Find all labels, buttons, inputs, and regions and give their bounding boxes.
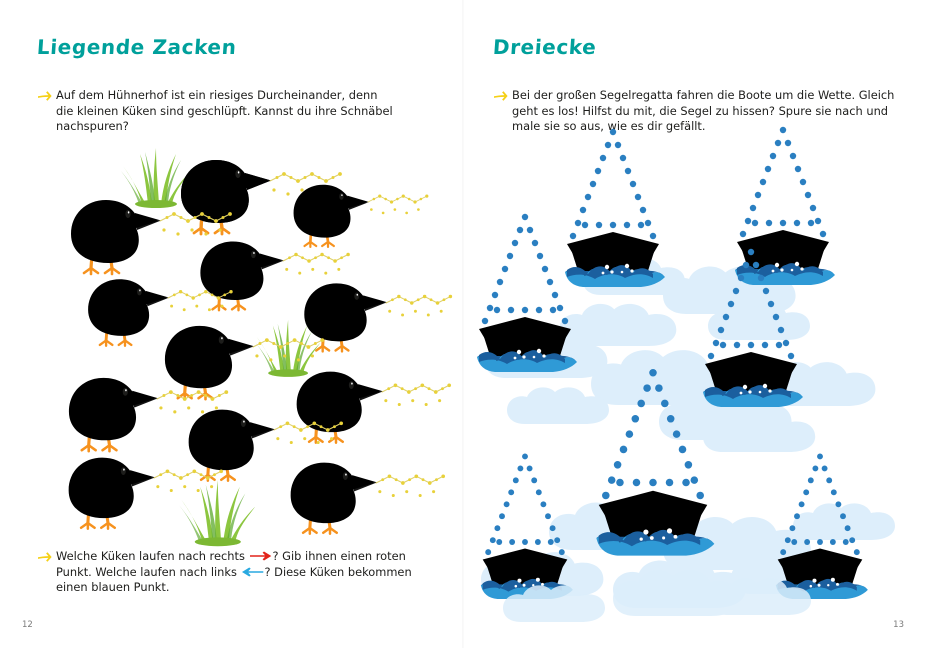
dotted-sail bbox=[780, 453, 859, 555]
chick-6 bbox=[304, 283, 387, 351]
chick bbox=[181, 160, 271, 234]
chick-trail-4 bbox=[283, 253, 350, 275]
chick-1 bbox=[181, 160, 271, 234]
chick-7 bbox=[165, 326, 254, 399]
chick-3 bbox=[294, 185, 370, 247]
bottom-text-part-1: Welche Küken laufen nach rechts bbox=[56, 549, 249, 563]
boat-2 bbox=[735, 127, 835, 285]
boat-4 bbox=[703, 249, 803, 407]
chick-trail-11 bbox=[154, 469, 223, 492]
chick-9 bbox=[297, 372, 383, 443]
bullet-arrow-icon bbox=[494, 90, 508, 102]
chick-12 bbox=[291, 463, 377, 534]
grass-tuft bbox=[179, 480, 255, 546]
book-gutter bbox=[462, 0, 464, 648]
boat-5 bbox=[596, 369, 714, 556]
page-number-right: 13 bbox=[893, 620, 904, 630]
boat-7 bbox=[776, 453, 868, 599]
bullet-arrow-icon bbox=[38, 551, 52, 563]
chick-10 bbox=[189, 410, 275, 481]
chick-2 bbox=[71, 200, 161, 274]
grass-tuft bbox=[121, 148, 190, 208]
water-cloud bbox=[481, 258, 895, 608]
dotted-sail bbox=[708, 249, 794, 359]
chick-4 bbox=[200, 241, 284, 310]
chick-5 bbox=[88, 279, 169, 346]
right-arrow-red-icon bbox=[250, 551, 272, 561]
chick-trail-2 bbox=[160, 212, 232, 236]
boat-3 bbox=[477, 214, 577, 372]
left-page: Liegende Zacken Auf dem Hühnerhof ist ei… bbox=[0, 0, 463, 648]
chick-11 bbox=[69, 458, 155, 529]
boat-6 bbox=[481, 453, 573, 599]
boat-1 bbox=[565, 129, 665, 287]
chick-trail-10 bbox=[274, 421, 343, 444]
right-instruction-text: Bei der großen Segelregatta fahren die B… bbox=[512, 88, 894, 133]
chick-trail-5 bbox=[168, 290, 233, 311]
chick-trail-1 bbox=[270, 172, 342, 196]
grass-tuft bbox=[255, 320, 321, 377]
dotted-sail bbox=[740, 127, 826, 237]
chick-trail-12 bbox=[376, 474, 445, 497]
right-page: Dreiecke Bei der großen Segelregatta fah… bbox=[463, 0, 926, 648]
book-spread: Liegende Zacken Auf dem Hühnerhof ist ei… bbox=[0, 0, 926, 648]
dotted-sail bbox=[570, 129, 656, 239]
chick-trail-6 bbox=[386, 295, 452, 317]
left-instruction-text: Auf dem Hühnerhof ist ein riesiges Durch… bbox=[56, 88, 393, 133]
left-page-heading: Liegende Zacken bbox=[36, 35, 237, 59]
right-page-heading: Dreiecke bbox=[492, 35, 597, 59]
bullet-arrow-icon bbox=[38, 90, 52, 102]
chick-trail-7 bbox=[253, 338, 324, 361]
left-page-instruction-bottom: Welche Küken laufen nach rechts ? Gib ih… bbox=[56, 549, 416, 596]
dotted-sail bbox=[602, 369, 704, 499]
chick-trail-3 bbox=[368, 195, 428, 215]
foreground-water bbox=[503, 570, 811, 622]
chick-8 bbox=[69, 378, 158, 451]
left-arrow-blue-icon bbox=[242, 567, 264, 577]
right-page-instruction-top: Bei der großen Segelregatta fahren die B… bbox=[512, 88, 902, 135]
dotted-sail bbox=[485, 453, 564, 555]
dotted-sail bbox=[482, 214, 568, 324]
chick-trail-8 bbox=[157, 390, 228, 413]
chick-trail-9 bbox=[382, 383, 451, 406]
left-page-instruction-top: Auf dem Hühnerhof ist ein riesiges Durch… bbox=[56, 88, 396, 135]
page-number-left: 12 bbox=[22, 620, 33, 630]
